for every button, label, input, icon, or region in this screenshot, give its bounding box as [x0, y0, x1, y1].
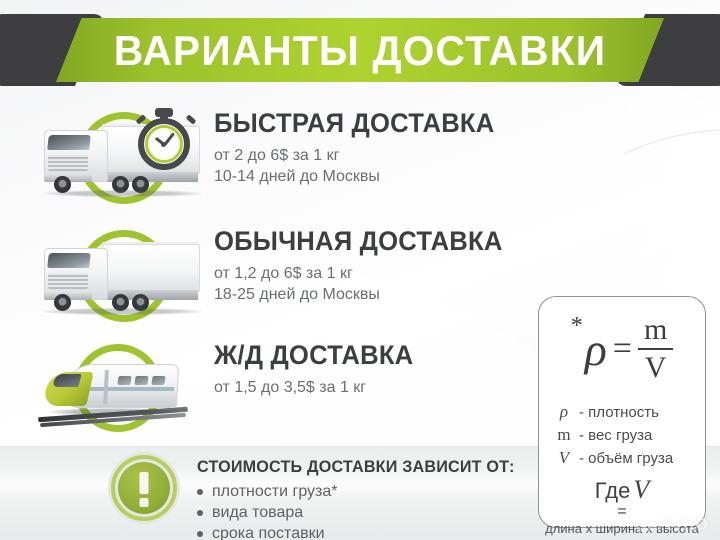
page-title: ВАРИАНТЫ ДОСТАВКИ — [11, 22, 709, 80]
formula-denominator: V — [639, 353, 673, 383]
list-item: вида товара — [197, 502, 527, 523]
legend-text-m: - вес груза — [579, 425, 652, 447]
legend-row: ρ - плотность — [553, 401, 697, 424]
volume-where-line: ГдеV — [539, 475, 705, 505]
fast-delivery-price: от 2 до 6$ за 1 кг — [214, 145, 564, 166]
density-formula: * ρ = m V — [539, 307, 705, 391]
legend-row: V - объём груза — [553, 447, 697, 470]
list-item: плотности груза* — [197, 481, 527, 502]
volume-where-symbol: V — [633, 475, 649, 504]
density-formula-card: * ρ = m V ρ - плотность m - вес груза V … — [538, 296, 706, 528]
cost-factor-lead-time: срока поставки — [212, 523, 325, 540]
rail-delivery-icon-group — [22, 336, 212, 444]
rail-delivery-text: Ж/Д ДОСТАВКА от 1,5 до 3,5$ за 1 кг — [214, 340, 564, 398]
bullet-icon — [197, 489, 203, 495]
regular-delivery-eta: 18-25 дней до Москвы — [214, 284, 564, 305]
volume-definition: ГдеV = длина х ширина х высота — [539, 475, 705, 536]
legend-text-v: - объём груза — [579, 448, 673, 470]
fraction-bar — [638, 348, 673, 350]
legend-text-rho: - плотность — [579, 402, 659, 424]
formula-asterisk: * — [571, 313, 583, 340]
regular-delivery-icon-group — [22, 222, 212, 330]
formula-equals: = — [613, 330, 632, 368]
regular-delivery-title: ОБЫЧНАЯ ДОСТАВКА — [214, 226, 547, 257]
delivery-option-rail: Ж/Д ДОСТАВКА от 1,5 до 3,5$ за 1 кг — [22, 336, 562, 444]
exclamation-circle-icon — [108, 452, 180, 524]
cost-factors-block: СТОИМОСТЬ ДОСТАВКИ ЗАВИСИТ ОТ: плотности… — [197, 457, 527, 540]
volume-where-label: Где — [595, 478, 631, 503]
volume-equals: = — [539, 506, 705, 518]
list-item: срока поставки — [197, 523, 527, 540]
delivery-options-infographic: ВАРИАНТЫ ДОСТАВКИ — [0, 0, 720, 540]
bullet-icon — [197, 510, 203, 516]
fast-delivery-text: БЫСТРАЯ ДОСТАВКА от 2 до 6$ за 1 кг 10-1… — [214, 108, 564, 187]
delivery-option-fast: БЫСТРАЯ ДОСТАВКА от 2 до 6$ за 1 кг 10-1… — [22, 104, 562, 212]
fast-delivery-icon-group — [22, 104, 212, 212]
train-icon — [38, 356, 188, 426]
rail-delivery-price: от 1,5 до 3,5$ за 1 кг — [214, 377, 564, 398]
fast-delivery-eta: 10-14 дней до Москвы — [214, 166, 564, 187]
cost-factors-title: СТОИМОСТЬ ДОСТАВКИ ЗАВИСИТ ОТ: — [197, 457, 511, 477]
stopwatch-icon — [134, 106, 198, 170]
truck-icon — [36, 240, 208, 318]
formula-rho: ρ — [585, 323, 607, 376]
legend-symbol-rho: ρ — [553, 401, 575, 423]
regular-delivery-text: ОБЫЧНАЯ ДОСТАВКА от 1,2 до 6$ за 1 кг 18… — [214, 226, 564, 305]
volume-formula: длина х ширина х высота — [539, 521, 705, 536]
fast-delivery-title: БЫСТРАЯ ДОСТАВКА — [214, 108, 547, 139]
bullet-icon — [197, 531, 203, 537]
header-banner: ВАРИАНТЫ ДОСТАВКИ — [0, 14, 720, 86]
formula-legend: ρ - плотность m - вес груза V - объём гр… — [553, 401, 697, 470]
cost-factor-goods-type: вида товара — [212, 502, 303, 523]
formula-fraction: m V — [638, 315, 673, 383]
rail-delivery-title: Ж/Д ДОСТАВКА — [214, 340, 547, 371]
legend-symbol-v: V — [553, 447, 575, 469]
cost-factor-density: плотности груза* — [212, 481, 338, 502]
delivery-option-regular: ОБЫЧНАЯ ДОСТАВКА от 1,2 до 6$ за 1 кг 18… — [22, 222, 562, 330]
regular-delivery-price: от 1,2 до 6$ за 1 кг — [214, 263, 564, 284]
legend-row: m - вес груза — [553, 424, 697, 447]
formula-numerator: m — [638, 315, 673, 345]
legend-symbol-m: m — [553, 424, 575, 446]
